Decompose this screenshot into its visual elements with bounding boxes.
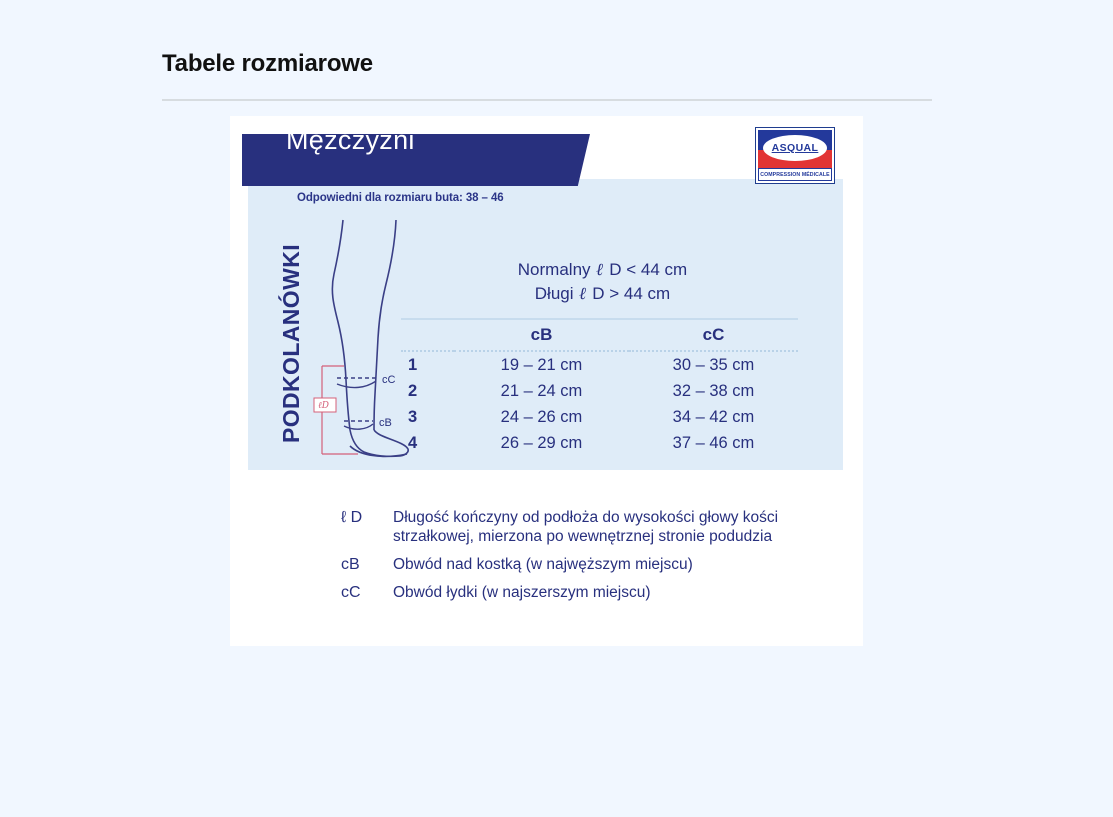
length-note-long-suffix: D > 44 cm bbox=[592, 284, 670, 303]
measurement-legend: ℓ D Długość kończyny od podłoża do wysok… bbox=[341, 508, 851, 611]
column-header-cc: cC bbox=[629, 319, 798, 351]
legend-item-cc: cC Obwód łydki (w najszerszym miejscu) bbox=[341, 583, 851, 602]
table-header-row: cB cC bbox=[401, 319, 798, 351]
length-note-normal: Normalny ℓ D < 44 cm bbox=[425, 258, 780, 282]
column-header-size bbox=[401, 319, 454, 351]
cell-cb: 26 – 29 cm bbox=[454, 430, 629, 456]
cell-size: 4 bbox=[401, 430, 454, 456]
length-note-long-prefix: Długi bbox=[535, 284, 574, 303]
product-category-text: PODKOLANÓWKI bbox=[278, 243, 305, 442]
table-row: 3 24 – 26 cm 34 – 42 cm bbox=[401, 404, 798, 430]
shoe-size-note: Odpowiedni dla rozmiaru buta: 38 – 46 bbox=[297, 192, 504, 204]
legend-description-cc: Obwód łydki (w najszerszym miejscu) bbox=[393, 583, 651, 602]
cell-cc: 34 – 42 cm bbox=[629, 404, 798, 430]
legend-item-ld: ℓ D Długość kończyny od podłoża do wysok… bbox=[341, 508, 851, 546]
page-title: Tabele rozmiarowe bbox=[162, 50, 373, 78]
cell-cc: 37 – 46 cm bbox=[629, 430, 798, 456]
length-note-long: Długi ℓ D > 44 cm bbox=[425, 282, 780, 306]
table-row: 4 26 – 29 cm 37 – 46 cm bbox=[401, 430, 798, 456]
cell-cb: 24 – 26 cm bbox=[454, 404, 629, 430]
cell-size: 2 bbox=[401, 378, 454, 404]
cell-cb: 19 – 21 cm bbox=[454, 351, 629, 378]
logo-oval: ASQUAL bbox=[763, 135, 827, 161]
cell-cc: 32 – 38 cm bbox=[629, 378, 798, 404]
logo-footer: COMPRESSION MÉDICALE bbox=[758, 168, 832, 181]
ell-symbol-icon: ℓ bbox=[578, 284, 587, 304]
diagram-label-cc: cC bbox=[382, 374, 396, 386]
table-row: 2 21 – 24 cm 32 – 38 cm bbox=[401, 378, 798, 404]
title-divider bbox=[162, 99, 932, 101]
length-note-normal-suffix: D < 44 cm bbox=[609, 260, 687, 279]
size-measurement-table: cB cC 1 19 – 21 cm 30 – 35 cm 2 21 – 24 … bbox=[401, 318, 798, 456]
cell-cb: 21 – 24 cm bbox=[454, 378, 629, 404]
cell-cc: 30 – 35 cm bbox=[629, 351, 798, 378]
legend-symbol-cb: cB bbox=[341, 555, 393, 574]
logo-tagline-text: COMPRESSION MÉDICALE bbox=[760, 172, 829, 178]
diagram-label-cb: cB bbox=[379, 417, 392, 429]
table-row: 1 19 – 21 cm 30 – 35 cm bbox=[401, 351, 798, 378]
cell-size: 3 bbox=[401, 404, 454, 430]
legend-description-cb: Obwód nad kostką (w najwęższym miejscu) bbox=[393, 555, 693, 574]
legend-item-cb: cB Obwód nad kostką (w najwęższym miejsc… bbox=[341, 555, 851, 574]
cell-size: 1 bbox=[401, 351, 454, 378]
length-definition-notes: Normalny ℓ D < 44 cm Długi ℓ D > 44 cm bbox=[425, 258, 780, 306]
legend-symbol-ld: ℓ D bbox=[341, 508, 393, 527]
column-header-cb: cB bbox=[454, 319, 629, 351]
legend-symbol-cc: cC bbox=[341, 583, 393, 602]
legend-description-ld: Długość kończyny od podłoża do wysokości… bbox=[393, 508, 851, 546]
ell-symbol-icon: ℓ bbox=[595, 260, 604, 280]
product-category-label: PODKOLANÓWKI bbox=[276, 238, 306, 448]
asqual-logo: ASQUAL COMPRESSION MÉDICALE bbox=[755, 127, 835, 184]
diagram-label-ld: ℓD bbox=[318, 401, 329, 411]
banner-title: Mężczyźni bbox=[286, 125, 415, 156]
logo-brand-text: ASQUAL bbox=[772, 142, 819, 154]
length-note-normal-prefix: Normalny bbox=[518, 260, 591, 279]
